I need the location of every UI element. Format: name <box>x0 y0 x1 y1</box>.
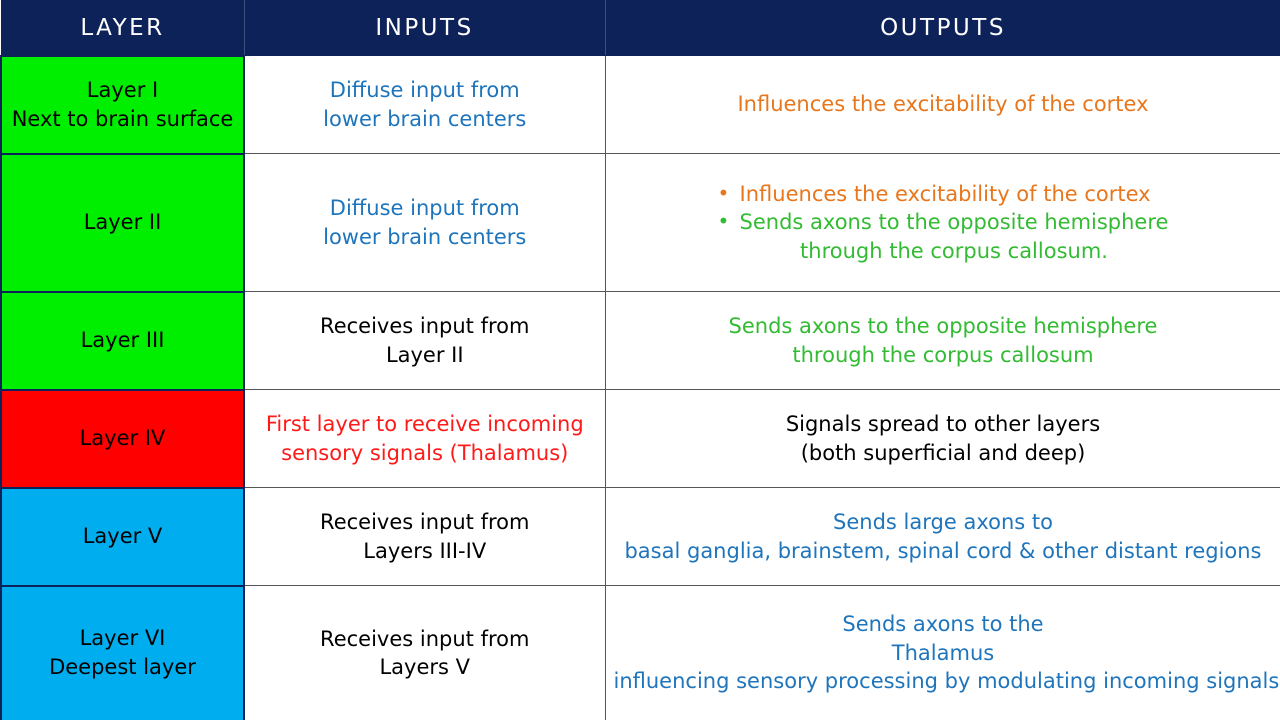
table-row: Layer II Diffuse input from lower brain … <box>1 154 1280 292</box>
inputs-line: lower brain centers <box>253 223 597 251</box>
table-row: Layer VI Deepest layer Receives input fr… <box>1 586 1280 720</box>
bullet-text: Influences the excitability of the corte… <box>740 182 1151 206</box>
inputs-line: Receives input from <box>253 312 597 340</box>
table-row: Layer I Next to brain surface Diffuse in… <box>1 56 1280 154</box>
inputs-cell-4: First layer to receive incoming sensory … <box>244 390 605 488</box>
outputs-line: Influences the excitability of the corte… <box>614 90 1273 118</box>
layer-cell-5: Layer V <box>1 488 244 586</box>
column-header-layer: LAYER <box>1 1 244 56</box>
table-row: Layer V Receives input from Layers III-I… <box>1 488 1280 586</box>
table-body: Layer I Next to brain surface Diffuse in… <box>1 56 1280 720</box>
outputs-line: (both superficial and deep) <box>614 439 1273 467</box>
inputs-line: sensory signals (Thalamus) <box>253 439 597 467</box>
table-row: Layer IV First layer to receive incoming… <box>1 390 1280 488</box>
layer-note: Deepest layer <box>10 653 235 682</box>
inputs-line: Layers V <box>253 653 597 681</box>
table-header: LAYER INPUTS OUTPUTS <box>1 1 1280 56</box>
inputs-line: Receives input from <box>253 508 597 536</box>
inputs-line: Layer II <box>253 341 597 369</box>
layer-name: Layer V <box>10 522 235 551</box>
inputs-line: First layer to receive incoming <box>253 410 597 438</box>
outputs-line: Sends axons to the opposite hemisphere <box>614 312 1273 340</box>
inputs-line: lower brain centers <box>253 105 597 133</box>
outputs-line: Signals spread to other layers <box>614 410 1273 438</box>
list-item: Sends axons to the opposite hemisphere t… <box>718 208 1169 265</box>
table-row: Layer III Receives input from Layer II S… <box>1 292 1280 390</box>
inputs-line: Diffuse input from <box>253 76 597 104</box>
outputs-line: basal ganglia, brainstem, spinal cord & … <box>614 537 1273 565</box>
outputs-cell-5: Sends large axons to basal ganglia, brai… <box>605 488 1280 586</box>
layer-cell-1: Layer I Next to brain surface <box>1 56 244 154</box>
layer-note: Next to brain surface <box>10 105 235 134</box>
layer-name: Layer III <box>10 326 235 355</box>
layer-cell-2: Layer II <box>1 154 244 292</box>
outputs-cell-2: Influences the excitability of the corte… <box>605 154 1280 292</box>
header-row: LAYER INPUTS OUTPUTS <box>1 1 1280 56</box>
inputs-line: Diffuse input from <box>253 194 597 222</box>
bullet-text-cont: through the corpus callosum. <box>740 237 1169 265</box>
inputs-line: Receives input from <box>253 625 597 653</box>
layer-name: Layer I <box>10 76 235 105</box>
outputs-cell-4: Signals spread to other layers (both sup… <box>605 390 1280 488</box>
inputs-cell-5: Receives input from Layers III-IV <box>244 488 605 586</box>
inputs-cell-3: Receives input from Layer II <box>244 292 605 390</box>
column-header-outputs: OUTPUTS <box>605 1 1280 56</box>
layer-cell-3: Layer III <box>1 292 244 390</box>
outputs-cell-3: Sends axons to the opposite hemisphere t… <box>605 292 1280 390</box>
column-header-inputs: INPUTS <box>244 1 605 56</box>
layer-cell-4: Layer IV <box>1 390 244 488</box>
inputs-line: Layers III-IV <box>253 537 597 565</box>
outputs-line: Sends axons to the <box>614 610 1273 638</box>
outputs-cell-1: Influences the excitability of the corte… <box>605 56 1280 154</box>
layer-cell-6: Layer VI Deepest layer <box>1 586 244 720</box>
outputs-line: through the corpus callosum <box>614 341 1273 369</box>
outputs-cell-6: Sends axons to the Thalamus influencing … <box>605 586 1280 720</box>
layer-name: Layer IV <box>10 424 235 453</box>
layer-name: Layer VI <box>10 624 235 653</box>
inputs-cell-1: Diffuse input from lower brain centers <box>244 56 605 154</box>
layer-name: Layer II <box>10 208 235 237</box>
bullet-text: Sends axons to the opposite hemisphere <box>740 210 1169 234</box>
outputs-line: Thalamus <box>614 639 1273 667</box>
cortical-layers-table: LAYER INPUTS OUTPUTS Layer I Next to bra… <box>0 0 1280 720</box>
inputs-cell-2: Diffuse input from lower brain centers <box>244 154 605 292</box>
outputs-bullet-list: Influences the excitability of the corte… <box>718 180 1169 265</box>
list-item: Influences the excitability of the corte… <box>718 180 1169 208</box>
outputs-line: influencing sensory processing by modula… <box>614 667 1273 695</box>
outputs-line: Sends large axons to <box>614 508 1273 536</box>
inputs-cell-6: Receives input from Layers V <box>244 586 605 720</box>
